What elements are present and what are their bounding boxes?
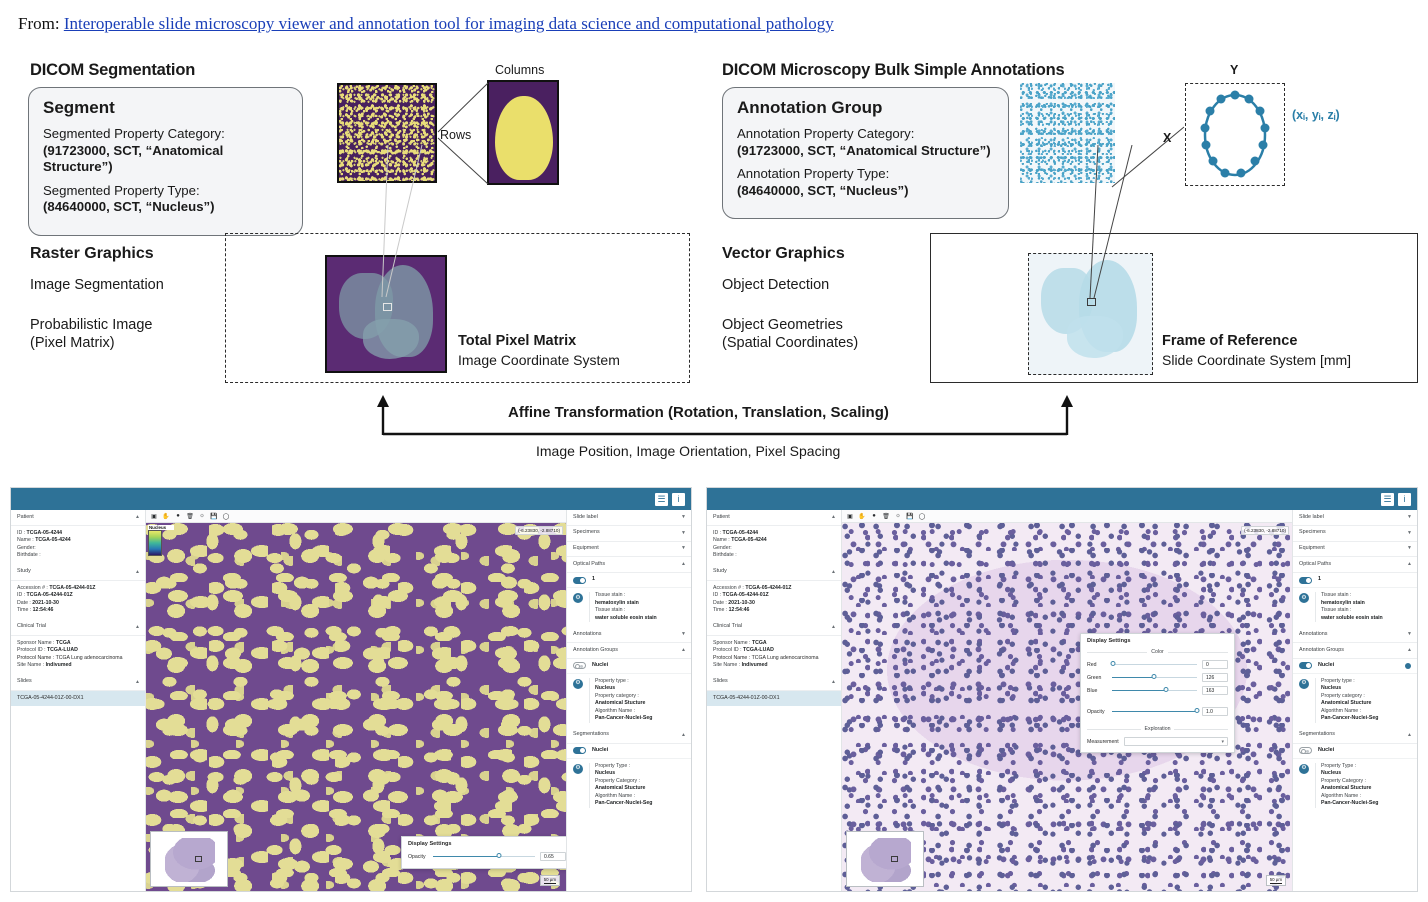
- chevron-up-icon: ▲: [681, 732, 686, 739]
- accordion-annotation-groups[interactable]: Annotation Groups ▲: [1293, 643, 1417, 659]
- segmentation-toggle[interactable]: [573, 747, 586, 754]
- dialog-title: Display Settings: [402, 837, 566, 850]
- vector-leader-lines: [1040, 145, 1170, 303]
- segment-card-row: Segmented Property Type: (84640000, SCT,…: [43, 183, 288, 216]
- left-display-settings-dialog[interactable]: Display Settings Opacity 0.65: [401, 836, 566, 869]
- scale-bar-label: 50 µm: [544, 877, 556, 882]
- accordion-annotations[interactable]: Annotations ▼: [567, 627, 691, 643]
- image-coordinate-system-caption: Image Coordinate System: [458, 352, 620, 368]
- right-viewer-metadata-panel[interactable]: Patient ▲ ID : TCGA-05-4244 Name : TCGA-…: [707, 510, 842, 891]
- blue-value-field[interactable]: 163: [1202, 686, 1228, 695]
- annotation-type-value: (84640000, SCT, “Nucleus”): [737, 183, 994, 200]
- optical-path-row[interactable]: 1: [567, 573, 691, 588]
- stain-value: hematoxylin stain: [595, 600, 639, 606]
- optical-path-row[interactable]: 1: [1293, 573, 1417, 588]
- raster-line-2: Probabilistic Image: [30, 317, 153, 333]
- scale-bar-label: 50 µm: [1270, 877, 1282, 882]
- raster-graphics-title: Raster Graphics: [30, 245, 154, 263]
- raster-line-1: Image Segmentation: [30, 277, 164, 293]
- annotations-header: Annotations: [573, 631, 601, 639]
- left-viewer-toolbar[interactable]: ▣ ✋ ● 🗑 ☼ 💾 ◯: [146, 510, 566, 523]
- study-row: ID : TCGA-05-4244-01Z: [17, 592, 139, 600]
- info-icon[interactable]: i: [672, 493, 685, 506]
- accordion-patient[interactable]: Patient ▲: [707, 510, 841, 526]
- right-viewer-stage[interactable]: ▣ ✋ ● 🗑 ☼ 💾 ◯ (-6.23830, -2.88710) 50 µm: [842, 510, 1292, 891]
- chevron-down-icon: ▼: [681, 530, 686, 537]
- measurement-row[interactable]: Measurement ▾: [1081, 735, 1234, 752]
- segment-card: Segment Segmented Property Category: (91…: [28, 87, 303, 236]
- opacity-value-field[interactable]: 0.65: [540, 852, 566, 861]
- patient-row: Gender:: [713, 545, 835, 553]
- annotation-group-row[interactable]: Nuclei: [1293, 659, 1417, 674]
- right-viewer-canvas[interactable]: (-6.23830, -2.88710) 50 µm Display Setti…: [842, 523, 1292, 891]
- chevron-down-icon: ▼: [1407, 514, 1412, 521]
- study-row: Date : 2021-10-30: [713, 600, 835, 608]
- segmentation-properties: ⚙ Property Type : Nucleus Property Categ…: [567, 759, 691, 813]
- accordion-study[interactable]: Study ▲: [707, 565, 841, 581]
- trial-row: Protocol Name : TCGA Lung adenocarcinoma: [713, 655, 835, 663]
- right-viewer-screenshot[interactable]: ☰ i Patient ▲ ID : TCGA-05-4244 Name : T…: [706, 487, 1418, 892]
- raster-leader-lines: [330, 145, 460, 300]
- study-row: Date : 2021-10-30: [17, 600, 139, 608]
- slide-list-item[interactable]: TCGA-05-4244-01Z-00-DX1: [707, 691, 841, 707]
- gear-icon[interactable]: ⚙: [573, 593, 583, 603]
- patient-body: ID : TCGA-05-4244 Name : TCGA-05-4244 Ge…: [707, 526, 841, 565]
- chevron-up-icon: ▲: [831, 624, 836, 631]
- annotation-color-swatch[interactable]: [1405, 663, 1411, 669]
- exploration-section-header: Exploration: [1081, 724, 1234, 735]
- accordion-equipment[interactable]: Equipment ▼: [567, 542, 691, 558]
- segment-type-value: (84640000, SCT, “Nucleus”): [43, 199, 288, 216]
- chevron-up-icon: ▲: [1407, 732, 1412, 739]
- overview-thumbnail[interactable]: [150, 831, 228, 887]
- patient-row: Birthdate :: [713, 552, 835, 560]
- measurement-label: Measurement: [1087, 739, 1119, 745]
- delete-icon[interactable]: 🗑: [882, 512, 890, 520]
- slides-header-label: Slides: [17, 678, 32, 686]
- nucleus-colorbar: Nucleus: [148, 525, 174, 556]
- accordion-specimens[interactable]: Specimens ▼: [1293, 526, 1417, 542]
- gear-icon[interactable]: ⚙: [573, 679, 583, 689]
- study-row: Accession # : TCGA-05-4244-01Z: [17, 585, 139, 593]
- accordion-annotation-groups[interactable]: Annotation Groups ▲: [567, 643, 691, 659]
- scale-bar: 50 µm: [540, 875, 560, 886]
- annotate-icon[interactable]: ●: [174, 512, 182, 520]
- red-slider-row[interactable]: Red 0: [1081, 658, 1234, 671]
- color-section-header: Color: [1081, 647, 1234, 658]
- right-display-settings-dialog[interactable]: Display Settings Color Red 0: [1080, 633, 1235, 753]
- annotation-groups-header: Annotation Groups: [573, 647, 618, 655]
- green-slider-row[interactable]: Green 126: [1081, 671, 1234, 684]
- save-icon[interactable]: 💾: [210, 512, 218, 520]
- chevron-up-icon: ▲: [135, 514, 140, 521]
- annotation-group-card: Annotation Group Annotation Property Cat…: [722, 87, 1009, 219]
- hand-icon[interactable]: ✋: [162, 512, 170, 520]
- chevron-up-icon: ▲: [135, 624, 140, 631]
- chevron-up-icon: ▲: [1407, 647, 1412, 654]
- chevron-down-icon: ▼: [1407, 530, 1412, 537]
- green-slider[interactable]: [1112, 677, 1197, 678]
- trial-row: Protocol Name : TCGA Lung adenocarcinoma: [17, 655, 139, 663]
- chevron-up-icon: ▲: [681, 561, 686, 568]
- accordion-slide-label[interactable]: Slide label ▼: [567, 510, 691, 526]
- total-pixel-matrix-caption: Total Pixel Matrix: [458, 333, 576, 349]
- info-icon[interactable]: i: [1398, 493, 1411, 506]
- from-label: From:: [18, 14, 60, 33]
- annotation-group-toggle[interactable]: [1299, 662, 1312, 669]
- blue-slider[interactable]: [1112, 690, 1197, 691]
- gear-icon[interactable]: ⚙: [1299, 764, 1309, 774]
- trial-row: Site Name : Indivumed: [713, 662, 835, 670]
- left-viewer-screenshot[interactable]: ☰ i Patient ▲ ID : TCGA-05-4244 Name : T…: [10, 487, 692, 892]
- color-section-label: Color: [1151, 649, 1163, 655]
- save-icon[interactable]: 💾: [906, 512, 914, 520]
- green-value-field[interactable]: 126: [1202, 673, 1228, 682]
- patient-row: Birthdate :: [17, 552, 139, 560]
- stain-value: water soluble eosin stain: [595, 615, 657, 621]
- right-viewer-topbar: ☰ i: [707, 488, 1417, 510]
- coordinate-readout: (-6.23830, -2.88710): [1241, 526, 1289, 535]
- annotation-category-key: Annotation Property Category:: [737, 126, 994, 143]
- menu-icon[interactable]: ☰: [655, 493, 668, 506]
- study-row: Time : 12:54:46: [713, 607, 835, 615]
- annotation-card-title: Annotation Group: [737, 98, 994, 118]
- left-viewer-controls-panel[interactable]: Slide label ▼ Specimens ▼ Equipment ▼ Op…: [566, 510, 691, 891]
- patient-row: ID : TCGA-05-4244: [17, 530, 139, 538]
- raster-line-3: (Pixel Matrix): [30, 335, 115, 351]
- optical-path-toggle[interactable]: [1299, 577, 1312, 584]
- segment-category-key: Segmented Property Category:: [43, 126, 288, 143]
- accordion-equipment[interactable]: Equipment ▼: [1293, 542, 1417, 558]
- menu-icon[interactable]: ☰: [1381, 493, 1394, 506]
- accordion-patient[interactable]: Patient ▲: [11, 510, 145, 526]
- polygon-nodes-graphic: [1185, 83, 1285, 186]
- chevron-up-icon: ▲: [681, 647, 686, 654]
- accordion-study[interactable]: Study ▲: [11, 565, 145, 581]
- select-icon[interactable]: ▣: [846, 512, 854, 520]
- segmentation-label: Nuclei: [592, 747, 608, 755]
- accordion-segmentations[interactable]: Segmentations ▲: [567, 728, 691, 744]
- chevron-down-icon: ▼: [681, 631, 686, 638]
- paper-title-link[interactable]: Interoperable slide microscopy viewer an…: [64, 14, 834, 33]
- optical-path-label: 1: [592, 576, 595, 584]
- stain-key: Tissue stain :: [595, 607, 625, 613]
- x-axis-label: X: [1163, 131, 1171, 145]
- annotation-group-properties: ⚙ Property type : Nucleus Property categ…: [567, 674, 691, 728]
- segmentation-row[interactable]: Nuclei: [1293, 744, 1417, 759]
- vector-graphics-title: Vector Graphics: [722, 245, 845, 263]
- equipment-header: Equipment: [573, 545, 599, 553]
- red-label: Red: [1087, 662, 1107, 668]
- viewport-marker: [195, 856, 202, 862]
- study-row: ID : TCGA-05-4244-01Z: [713, 592, 835, 600]
- stain-key: Tissue stain :: [595, 592, 625, 598]
- segmentation-toggle[interactable]: [1299, 747, 1312, 754]
- annotation-category-value: (91723000, SCT, “Anatomical Structure”): [737, 143, 994, 160]
- segmentation-properties: ⚙ Property Type : Nucleus Property Categ…: [1293, 759, 1417, 813]
- accordion-optical-paths[interactable]: Optical Paths ▲: [1293, 557, 1417, 573]
- vector-line-1: Object Detection: [722, 277, 829, 293]
- patient-body: ID : TCGA-05-4244 Name : TCGA-05-4244 Ge…: [11, 526, 145, 565]
- segment-card-row: Segmented Property Category: (91723000, …: [43, 126, 288, 176]
- y-axis-label: Y: [1230, 63, 1238, 77]
- patient-row: Name : TCGA-05-4244: [713, 537, 835, 545]
- accordion-annotations[interactable]: Annotations ▼: [1293, 627, 1417, 643]
- red-value-field[interactable]: 0: [1202, 660, 1228, 669]
- accordion-optical-paths[interactable]: Optical Paths ▲: [567, 557, 691, 573]
- exploration-section-label: Exploration: [1145, 726, 1171, 732]
- annotation-card-row: Annotation Property Type: (84640000, SCT…: [737, 166, 994, 199]
- trial-row: Sponsor Name : TCGA: [17, 640, 139, 648]
- study-header-label: Study: [17, 568, 31, 576]
- coordinate-tuple-label: (xᵢ, yᵢ, zᵢ): [1292, 108, 1340, 122]
- opacity-label: Opacity: [408, 854, 428, 860]
- gear-icon[interactable]: ⚙: [573, 764, 583, 774]
- green-label: Green: [1087, 675, 1107, 681]
- hide-icon[interactable]: ☼: [198, 512, 206, 520]
- segment-type-key: Segmented Property Type:: [43, 183, 288, 200]
- source-attribution: From: Interoperable slide microscopy vie…: [18, 14, 834, 34]
- blue-label: Blue: [1087, 688, 1107, 694]
- accordion-slides[interactable]: Slides ▲: [707, 675, 841, 691]
- colorbar-title: Nucleus: [148, 525, 174, 530]
- trial-row: Sponsor Name : TCGA: [713, 640, 835, 648]
- chevron-up-icon: ▲: [831, 569, 836, 576]
- chevron-down-icon: ▼: [681, 514, 686, 521]
- clinical-trial-header-label: Clinical Trial: [17, 623, 46, 631]
- slide-list-item[interactable]: TCGA-05-4244-01Z-00-DX1: [11, 691, 145, 707]
- study-body: Accession # : TCGA-05-4244-01Z ID : TCGA…: [11, 581, 145, 620]
- trial-row: Site Name : Indivumed: [17, 662, 139, 670]
- left-viewer-stage[interactable]: ▣ ✋ ● 🗑 ☼ 💾 ◯ Nucleus (-6.23830, -2.8871…: [146, 510, 566, 891]
- trial-row: Protocol ID : TCGA-LUAD: [17, 647, 139, 655]
- patient-header-label: Patient: [17, 514, 34, 522]
- overview-thumbnail[interactable]: [846, 831, 924, 887]
- optical-path-properties: ⚙ Tissue stain : hematoxylin stain Tissu…: [1293, 588, 1417, 627]
- annotation-group-properties: ⚙ Property type : Nucleus Property categ…: [1293, 674, 1417, 728]
- vector-line-2: Object Geometries: [722, 317, 843, 333]
- chevron-up-icon: ▲: [135, 679, 140, 686]
- trial-row: Protocol ID : TCGA-LUAD: [713, 647, 835, 655]
- affine-transformation-label: Affine Transformation (Rotation, Transla…: [508, 404, 889, 421]
- coordinate-readout: (-6.23830, -2.88710): [515, 526, 563, 535]
- concept-diagram: DICOM Segmentation Segment Segmented Pro…: [0, 45, 1428, 480]
- annotation-type-key: Annotation Property Type:: [737, 166, 994, 183]
- chevron-down-icon: ▼: [1407, 545, 1412, 552]
- opacity-slider-row[interactable]: Opacity 0.65: [402, 850, 566, 868]
- delete-icon[interactable]: 🗑: [186, 512, 194, 520]
- opacity-label: Opacity: [1087, 709, 1107, 715]
- accordion-segmentations[interactable]: Segmentations ▲: [1293, 728, 1417, 744]
- accordion-clinical-trial[interactable]: Clinical Trial ▲: [707, 620, 841, 636]
- left-viewer-metadata-panel[interactable]: Patient ▲ ID : TCGA-05-4244 Name : TCGA-…: [11, 510, 146, 891]
- scale-bar: 50 µm: [1266, 875, 1286, 886]
- dicom-annotations-title: DICOM Microscopy Bulk Simple Annotations: [722, 61, 1065, 80]
- optical-path-toggle[interactable]: [573, 577, 586, 584]
- dialog-title: Display Settings: [1081, 634, 1234, 647]
- colorbar-gradient: [148, 530, 162, 556]
- left-viewer-topbar: ☰ i: [11, 488, 691, 510]
- patient-row: Name : TCGA-05-4244: [17, 537, 139, 545]
- segmentations-header: Segmentations: [573, 731, 609, 739]
- annotation-group-label: Nuclei: [592, 662, 608, 670]
- blue-slider-row[interactable]: Blue 163: [1081, 684, 1234, 697]
- dicom-segmentation-title: DICOM Segmentation: [30, 61, 195, 80]
- measurement-select[interactable]: ▾: [1124, 737, 1228, 746]
- annotation-group-row[interactable]: Nuclei: [567, 659, 691, 674]
- chevron-up-icon: ▲: [1407, 561, 1412, 568]
- opacity-slider[interactable]: [433, 856, 535, 857]
- accordion-clinical-trial[interactable]: Clinical Trial ▲: [11, 620, 145, 636]
- left-viewer-canvas[interactable]: Nucleus (-6.23830, -2.88710) 50 µm Displ…: [146, 523, 566, 891]
- clinical-trial-body: Sponsor Name : TCGA Protocol ID : TCGA-L…: [11, 636, 145, 675]
- slide-coordinate-system-caption: Slide Coordinate System [mm]: [1162, 352, 1351, 368]
- slide-label-header: Slide label: [573, 514, 598, 522]
- study-row: Accession # : TCGA-05-4244-01Z: [713, 585, 835, 593]
- annotate-icon[interactable]: ●: [870, 512, 878, 520]
- gear-icon[interactable]: ⚙: [1299, 679, 1309, 689]
- chevron-up-icon: ▲: [831, 679, 836, 686]
- hide-icon[interactable]: ☼: [894, 512, 902, 520]
- segmentation-row[interactable]: Nuclei: [567, 744, 691, 759]
- hand-icon[interactable]: ✋: [858, 512, 866, 520]
- vector-line-3: (Spatial Coordinates): [722, 335, 858, 351]
- study-body: Accession # : TCGA-05-4244-01Z ID : TCGA…: [707, 581, 841, 620]
- annotation-group-toggle[interactable]: [573, 662, 586, 669]
- chevron-up-icon: ▲: [135, 569, 140, 576]
- gear-icon[interactable]: ⚙: [1299, 593, 1309, 603]
- opacity-slider-row[interactable]: Opacity 1.0: [1081, 705, 1234, 718]
- annotation-card-row: Annotation Property Category: (91723000,…: [737, 126, 994, 159]
- clinical-trial-body: Sponsor Name : TCGA Protocol ID : TCGA-L…: [707, 636, 841, 675]
- columns-label: Columns: [495, 63, 544, 77]
- affine-parameters-label: Image Position, Image Orientation, Pixel…: [536, 443, 840, 459]
- optical-path-properties: ⚙ Tissue stain : hematoxylin stain Tissu…: [567, 588, 691, 627]
- chevron-down-icon: ▼: [1407, 631, 1412, 638]
- opacity-slider[interactable]: [1112, 711, 1197, 712]
- right-viewer-toolbar[interactable]: ▣ ✋ ● 🗑 ☼ 💾 ◯: [842, 510, 1292, 523]
- viewport-marker: [891, 856, 898, 862]
- patient-row: ID : TCGA-05-4244: [713, 530, 835, 538]
- reset-icon[interactable]: ◯: [222, 512, 230, 520]
- segment-card-title: Segment: [43, 98, 288, 118]
- specimens-header: Specimens: [573, 529, 600, 537]
- opacity-value-field[interactable]: 1.0: [1202, 707, 1228, 716]
- reset-icon[interactable]: ◯: [918, 512, 926, 520]
- right-viewer-controls-panel[interactable]: Slide label ▼ Specimens ▼ Equipment ▼ Op…: [1292, 510, 1417, 891]
- accordion-specimens[interactable]: Specimens ▼: [567, 526, 691, 542]
- accordion-slide-label[interactable]: Slide label ▼: [1293, 510, 1417, 526]
- patient-row: Gender:: [17, 545, 139, 553]
- accordion-slides[interactable]: Slides ▲: [11, 675, 145, 691]
- chevron-down-icon: ▼: [681, 545, 686, 552]
- chevron-up-icon: ▲: [831, 514, 836, 521]
- optical-paths-header: Optical Paths: [573, 561, 605, 569]
- select-icon[interactable]: ▣: [150, 512, 158, 520]
- red-slider[interactable]: [1112, 664, 1197, 665]
- study-row: Time : 12:54:46: [17, 607, 139, 615]
- segment-category-value: (91723000, SCT, “Anatomical Structure”): [43, 143, 288, 176]
- frame-of-reference-caption: Frame of Reference: [1162, 333, 1297, 349]
